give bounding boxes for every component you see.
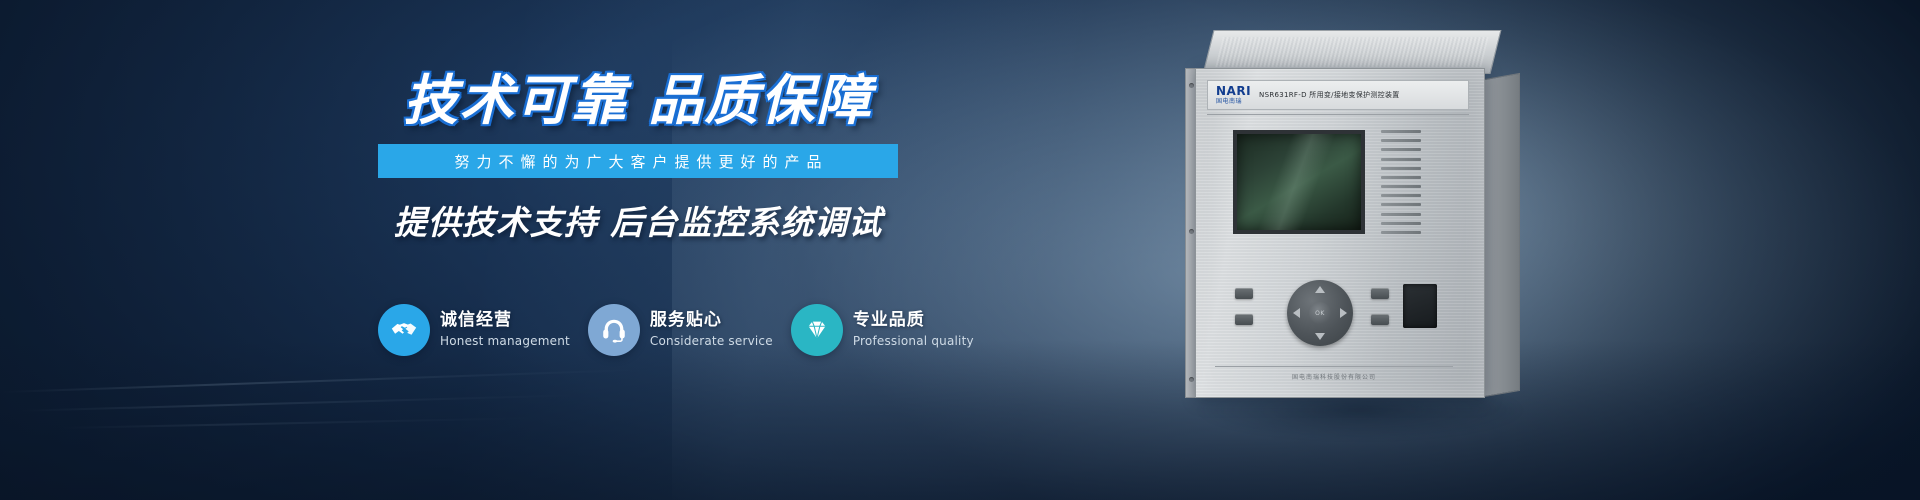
vent-slot <box>1381 203 1421 206</box>
brand-name-en: NARI <box>1216 85 1251 97</box>
floor-streak <box>20 394 580 412</box>
function-button[interactable] <box>1235 288 1253 299</box>
floor-gradient <box>0 340 1920 500</box>
device-brand-plate: NARI 国电南瑞 NSR631RF-D 所用变/接地变保护测控装置 <box>1207 80 1469 110</box>
headset-icon <box>588 304 640 356</box>
promo-banner: 技术可靠 品质保障 努力不懈的为广大客户提供更好的产品 提供技术支持 后台监控系… <box>0 0 1920 500</box>
feature-item-considerate-service: 服务贴心 Considerate service <box>588 304 773 356</box>
handshake-icon <box>378 304 430 356</box>
arrow-left-icon[interactable] <box>1293 308 1300 318</box>
mounting-hole <box>1189 229 1194 234</box>
device-manufacturer-text: 国电南瑞科技股份有限公司 <box>1215 372 1453 381</box>
feature-title: 诚信经营 <box>440 311 570 331</box>
device-communication-port <box>1403 284 1437 328</box>
banner-copy: 技术可靠 品质保障 努力不懈的为广大客户提供更好的产品 提供技术支持 后台监控系… <box>378 74 898 244</box>
device-vent-grille <box>1381 130 1421 234</box>
mounting-hole <box>1189 377 1194 382</box>
device-side-panel <box>1484 73 1520 397</box>
feature-title: 服务贴心 <box>650 311 773 331</box>
vent-slot <box>1381 167 1421 170</box>
subtitle-bar-text: 努力不懈的为广大客户提供更好的产品 <box>447 151 828 172</box>
vent-slot <box>1381 176 1421 179</box>
navigation-dpad[interactable]: OK <box>1287 280 1353 346</box>
vent-slot <box>1381 231 1421 234</box>
feature-title: 专业品质 <box>853 311 974 331</box>
headline-primary: 技术可靠 品质保障 <box>378 74 898 128</box>
device-control-area: OK <box>1225 280 1445 352</box>
feature-item-honest-management: 诚信经营 Honest management <box>378 304 570 356</box>
floor-streak <box>60 417 540 429</box>
feature-item-professional-quality: 专业品质 Professional quality <box>791 304 974 356</box>
vent-slot <box>1381 222 1421 225</box>
vent-slot <box>1381 158 1421 161</box>
function-button[interactable] <box>1235 314 1253 325</box>
device-lcd-screen <box>1233 130 1365 234</box>
function-button[interactable] <box>1371 314 1389 325</box>
feature-list: 诚信经营 Honest management 服务贴心 Considerate … <box>378 304 908 356</box>
feature-subtitle: Considerate service <box>650 335 773 349</box>
device-model-label: NSR631RF-D 所用变/接地变保护测控装置 <box>1259 90 1400 100</box>
vent-slot <box>1381 185 1421 188</box>
feature-subtitle: Honest management <box>440 335 570 349</box>
device-brand: NARI 国电南瑞 <box>1216 85 1251 105</box>
screen-glare <box>1237 134 1361 230</box>
panel-divider <box>1207 114 1469 115</box>
vent-slot <box>1381 148 1421 151</box>
product-device: NARI 国电南瑞 NSR631RF-D 所用变/接地变保护测控装置 <box>1185 30 1525 440</box>
panel-divider <box>1215 366 1453 367</box>
function-button[interactable] <box>1371 288 1389 299</box>
feature-text: 服务贴心 Considerate service <box>650 311 773 348</box>
arrow-right-icon[interactable] <box>1340 308 1347 318</box>
feature-subtitle: Professional quality <box>853 335 974 349</box>
diamond-icon <box>791 304 843 356</box>
mounting-hole <box>1189 83 1194 88</box>
dpad-ok-button[interactable]: OK <box>1309 302 1331 324</box>
vent-slot <box>1381 139 1421 142</box>
brand-name-cn: 国电南瑞 <box>1216 99 1251 105</box>
floor-streak <box>0 369 640 393</box>
vent-slot <box>1381 194 1421 197</box>
arrow-down-icon[interactable] <box>1315 333 1325 340</box>
arrow-up-icon[interactable] <box>1315 286 1325 293</box>
headline-secondary: 提供技术支持 后台监控系统调试 <box>378 196 898 244</box>
feature-text: 专业品质 Professional quality <box>853 311 974 348</box>
subtitle-bar: 努力不懈的为广大客户提供更好的产品 <box>378 144 898 178</box>
feature-text: 诚信经营 Honest management <box>440 311 570 348</box>
vignette-overlay <box>0 0 1920 500</box>
vent-slot <box>1381 213 1421 216</box>
vent-slot <box>1381 130 1421 133</box>
